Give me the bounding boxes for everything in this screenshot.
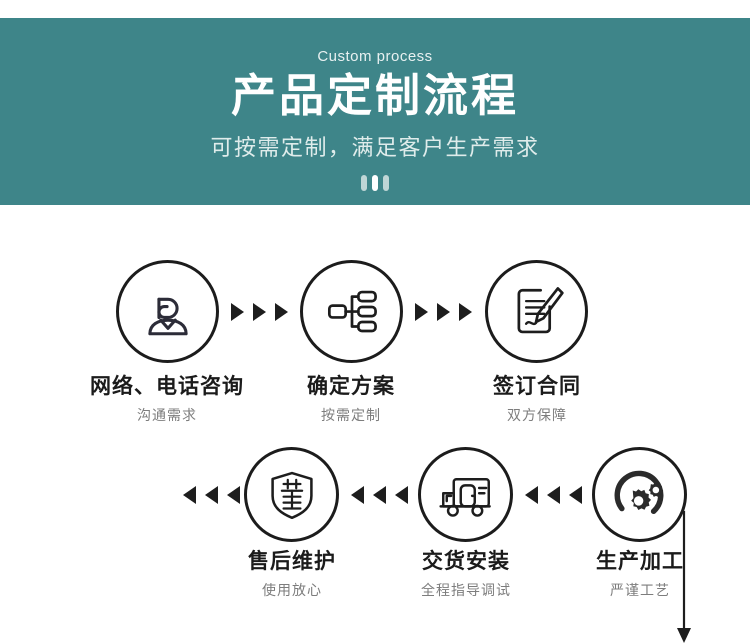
- step-title: 生产加工: [525, 550, 750, 574]
- banner-eyebrow: Custom process: [0, 48, 750, 65]
- arrow-group-delivery-to-after-sales: [183, 486, 240, 504]
- step-circle-production[interactable]: [592, 447, 687, 542]
- consultant-person-icon: [139, 283, 197, 341]
- step-desc: 双方保障: [422, 405, 652, 425]
- step-desc: 严谨工艺: [525, 580, 750, 600]
- banner-section: Custom process 产品定制流程 可按需定制，满足客户生产需求: [0, 18, 750, 205]
- gears-production-icon: [611, 466, 669, 524]
- triangle-right-icon: [415, 303, 428, 321]
- triangle-right-icon: [253, 303, 266, 321]
- triangle-left-icon: [183, 486, 196, 504]
- triangle-right-icon: [437, 303, 450, 321]
- divider-bar-right: [383, 175, 389, 191]
- process-flow-section: 网络、电话咨询 沟通需求 确定方案 按需定制 签订合同 双方保障: [0, 205, 750, 643]
- triangle-left-icon: [373, 486, 386, 504]
- triangle-left-icon: [395, 486, 408, 504]
- shield-after-sales-icon: [265, 468, 319, 522]
- step-circle-delivery[interactable]: [418, 447, 513, 542]
- contract-signing-icon: [508, 283, 566, 341]
- arrow-group-consult-to-plan: [231, 303, 288, 321]
- step-circle-contract[interactable]: [485, 260, 588, 363]
- triangle-right-icon: [275, 303, 288, 321]
- step-circle-plan[interactable]: [300, 260, 403, 363]
- triangle-left-icon: [205, 486, 218, 504]
- step-label-contract: 签订合同 双方保障: [422, 375, 652, 425]
- step-circle-consultation[interactable]: [116, 260, 219, 363]
- triangle-left-icon: [547, 486, 560, 504]
- triangle-right-icon: [459, 303, 472, 321]
- arrow-group-production-to-delivery: [351, 486, 408, 504]
- divider-bar-left: [361, 175, 367, 191]
- banner-title: 产品定制流程: [0, 71, 750, 121]
- banner-subtitle: 可按需定制，满足客户生产需求: [0, 130, 750, 162]
- arrow-group-into-delivery: [525, 486, 582, 504]
- step-label-production: 生产加工 严谨工艺: [525, 550, 750, 600]
- custom-process-infographic: Custom process 产品定制流程 可按需定制，满足客户生产需求: [0, 0, 750, 643]
- triangle-right-icon: [231, 303, 244, 321]
- step-circle-after-sales[interactable]: [244, 447, 339, 542]
- flowchart-plan-icon: [323, 283, 381, 341]
- triangle-left-icon: [351, 486, 364, 504]
- banner-divider-bars: [0, 175, 750, 191]
- divider-bar-middle: [372, 175, 378, 191]
- triangle-left-icon: [569, 486, 582, 504]
- triangle-left-icon: [525, 486, 538, 504]
- arrow-group-plan-to-contract: [415, 303, 472, 321]
- triangle-left-icon: [227, 486, 240, 504]
- delivery-truck-icon: [438, 467, 494, 523]
- step-title: 签订合同: [422, 375, 652, 399]
